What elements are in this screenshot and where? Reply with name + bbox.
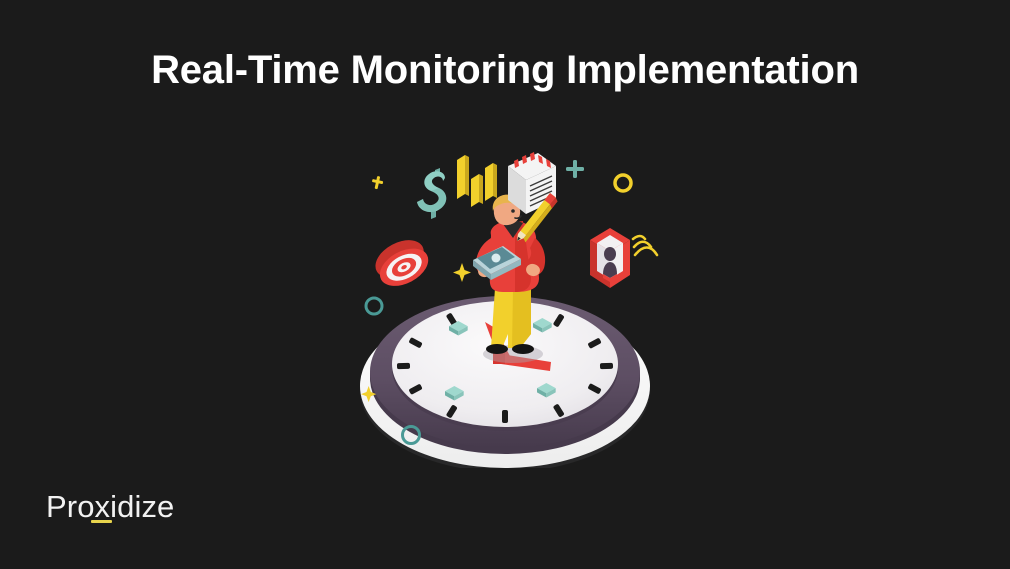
target-icon	[369, 232, 434, 293]
hero-illustration	[345, 138, 665, 468]
sparkle-icon	[453, 263, 471, 282]
dollar-sign-icon	[417, 168, 446, 219]
circle-outline-yellow-icon	[615, 175, 631, 191]
brand-logo[interactable]: Proxidize	[46, 487, 174, 527]
plus-icon	[566, 160, 584, 178]
slide-canvas: Real-Time Monitoring Implementation	[0, 0, 1010, 569]
page-title: Real-Time Monitoring Implementation	[0, 42, 1010, 98]
brand-logo-accent-underline	[91, 520, 112, 523]
smartphone-signal-icon	[590, 228, 657, 288]
bar-chart-icon	[457, 155, 497, 207]
plus-small-icon	[372, 176, 383, 189]
circle-outline-teal-icon	[366, 298, 382, 314]
